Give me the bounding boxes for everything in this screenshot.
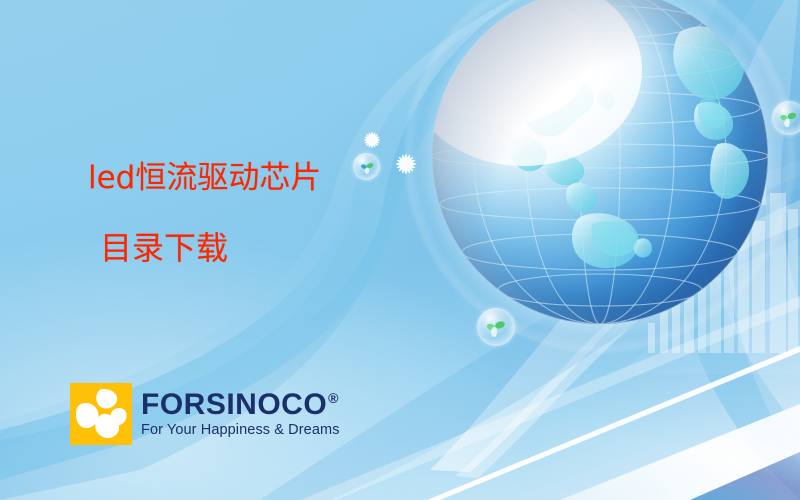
sparkle-flower-1-icon — [362, 130, 382, 150]
brand-name: FORSINOCO — [141, 390, 327, 420]
headline-line-1: led恒流驱动芯片 — [88, 163, 321, 194]
registered-trademark-icon: ® — [328, 391, 339, 405]
headline-line-2: 目录下载 — [100, 232, 228, 264]
bubble-sprout-2-icon — [477, 308, 515, 346]
brand-tagline: For Your Happiness & Dreams — [141, 423, 340, 439]
four-petal-pinwheel-icon — [70, 383, 132, 445]
bubble-sprout-3-icon — [772, 101, 800, 135]
brand-logo: FORSINOCO ® For Your Happiness & Dreams — [70, 383, 340, 445]
brand-wordmark: FORSINOCO ® For Your Happiness & Dreams — [141, 390, 340, 439]
bubble-sprout-1-icon — [353, 153, 380, 180]
brand-name-row: FORSINOCO ® — [141, 390, 340, 420]
sparkle-flower-2-icon — [394, 152, 418, 176]
banner-canvas: led恒流驱动芯片 目录下载 FORSINOCO ® — [0, 0, 800, 500]
